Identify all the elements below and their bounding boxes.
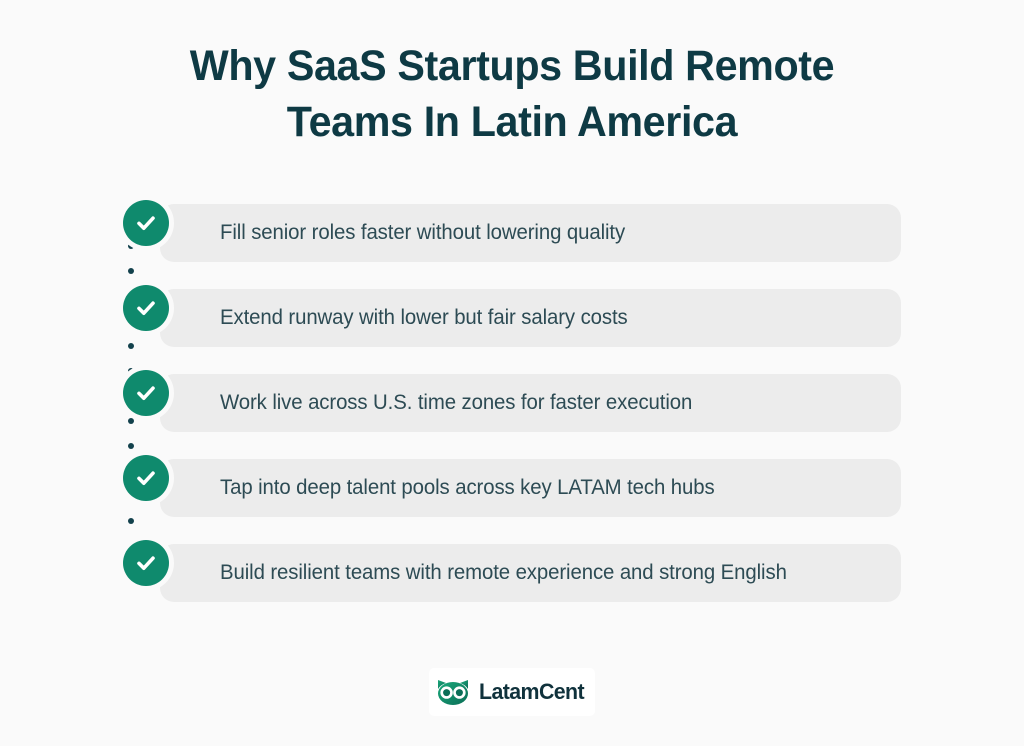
check-circle-icon xyxy=(123,455,169,501)
benefit-text: Extend runway with lower but fair salary… xyxy=(220,289,628,347)
owl-logo-icon xyxy=(436,678,470,706)
logo-wordmark: LatamCent xyxy=(479,679,584,705)
benefit-text: Work live across U.S. time zones for fas… xyxy=(220,374,692,432)
benefit-row: Build resilient teams with remote experi… xyxy=(160,544,901,602)
benefit-row: Fill senior roles faster without lowerin… xyxy=(160,204,901,262)
benefit-text: Fill senior roles faster without lowerin… xyxy=(220,204,625,262)
check-circle-icon xyxy=(123,540,169,586)
benefit-text: Tap into deep talent pools across key LA… xyxy=(220,459,715,517)
rail-dot xyxy=(128,443,134,449)
benefit-row: Tap into deep talent pools across key LA… xyxy=(160,459,901,517)
rail-dot xyxy=(128,518,134,524)
benefit-row: Work live across U.S. time zones for fas… xyxy=(160,374,901,432)
benefit-text: Build resilient teams with remote experi… xyxy=(220,544,787,602)
check-circle-icon xyxy=(123,285,169,331)
benefit-row: Extend runway with lower but fair salary… xyxy=(160,289,901,347)
check-circle-icon xyxy=(123,200,169,246)
rail-dot xyxy=(128,268,134,274)
benefits-list: Fill senior roles faster without lowerin… xyxy=(0,0,1024,746)
check-circle-icon xyxy=(123,370,169,416)
rail-dot xyxy=(128,343,134,349)
brand-logo: LatamCent xyxy=(429,668,595,716)
rail-dot xyxy=(128,243,134,249)
rail-dot xyxy=(128,418,134,424)
infographic-canvas: Why SaaS Startups Build Remote Teams In … xyxy=(0,0,1024,746)
